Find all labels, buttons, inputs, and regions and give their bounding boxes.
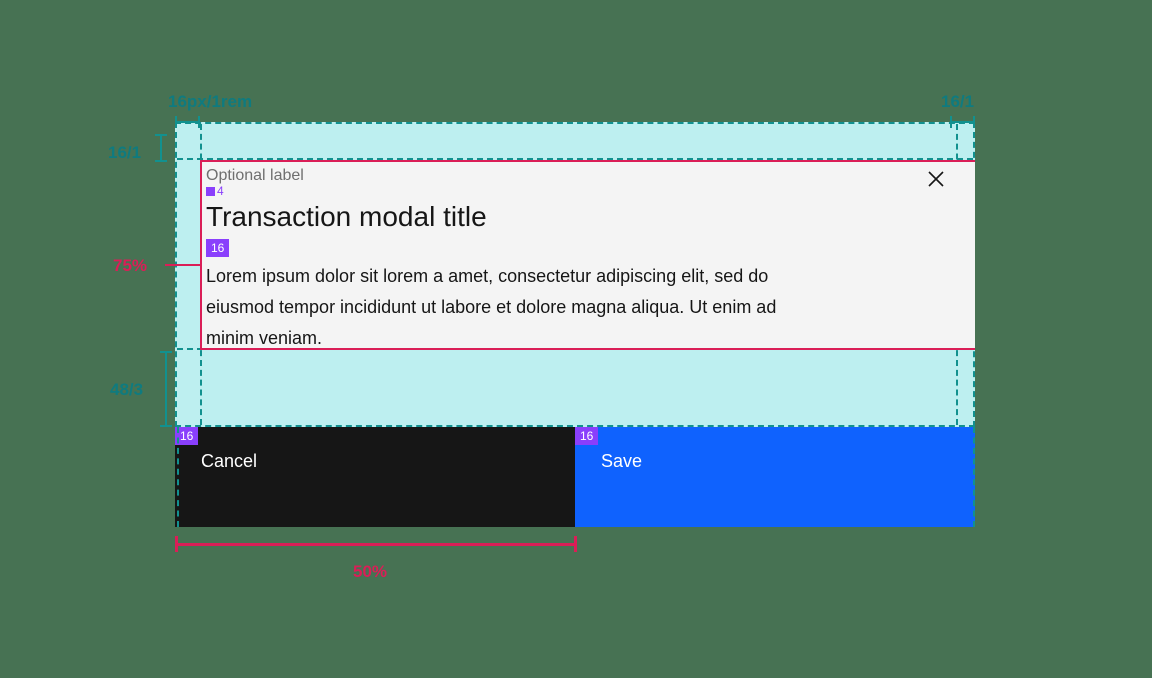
annotation-bottom-spacing: 48/3	[110, 380, 143, 400]
annotation-button-width: 50%	[353, 562, 387, 582]
measure-cap-end	[574, 536, 577, 552]
measure-cap-start	[950, 116, 952, 128]
modal-optional-label: Optional label	[206, 166, 777, 186]
annotation-right-spacing: 16/1	[941, 92, 974, 112]
annotation-content-width: 75%	[113, 256, 147, 276]
measure-button-width	[175, 536, 577, 552]
measure-cap-start	[175, 116, 177, 128]
measure-cap-start	[155, 134, 167, 136]
measure-bar	[175, 543, 577, 546]
measure-bar	[950, 121, 975, 123]
guide-vertical-footer-right	[973, 427, 975, 527]
leader-line-content-width	[165, 264, 201, 266]
close-icon[interactable]	[924, 167, 948, 191]
measure-cap-start	[160, 351, 172, 353]
measure-bar	[175, 121, 200, 123]
measure-right-spacing	[950, 116, 975, 128]
cancel-button-label: Cancel	[201, 451, 257, 471]
spacing-badge-save-padding: 16	[575, 427, 598, 445]
save-button[interactable]: 16 Save	[575, 427, 975, 527]
spacing-badge-title-gap: 4	[206, 185, 777, 197]
modal-dialog: Optional label 4 Transaction modal title…	[200, 160, 975, 350]
measure-bottom-spacing	[160, 351, 172, 427]
save-button-label: Save	[601, 451, 642, 471]
cancel-button[interactable]: 16 Cancel	[175, 427, 575, 527]
measure-cap-end	[973, 116, 975, 128]
spacing-badge-value: 4	[217, 185, 224, 197]
spec-canvas: Optional label 4 Transaction modal title…	[0, 0, 1152, 678]
measure-cap-end	[155, 160, 167, 162]
modal-content: Optional label 4 Transaction modal title…	[202, 162, 777, 348]
annotation-left-spacing: 16/1	[108, 143, 141, 163]
measure-top-spacing	[175, 116, 200, 128]
measure-cap-end	[198, 116, 200, 128]
measure-bar	[165, 351, 167, 427]
measure-cap-start	[175, 536, 178, 552]
measure-bar	[160, 134, 162, 162]
guide-vertical-footer-left	[177, 427, 179, 527]
annotation-top-spacing: 16px/1rem	[168, 92, 252, 112]
modal-title: Transaction modal title	[206, 199, 777, 235]
measure-cap-end	[160, 425, 172, 427]
measure-left-spacing	[155, 134, 167, 162]
modal-body-text: Lorem ipsum dolor sit lorem a amet, cons…	[206, 261, 781, 354]
spacing-badge-body-gap: 16	[206, 239, 229, 257]
badge-swatch	[206, 187, 215, 196]
